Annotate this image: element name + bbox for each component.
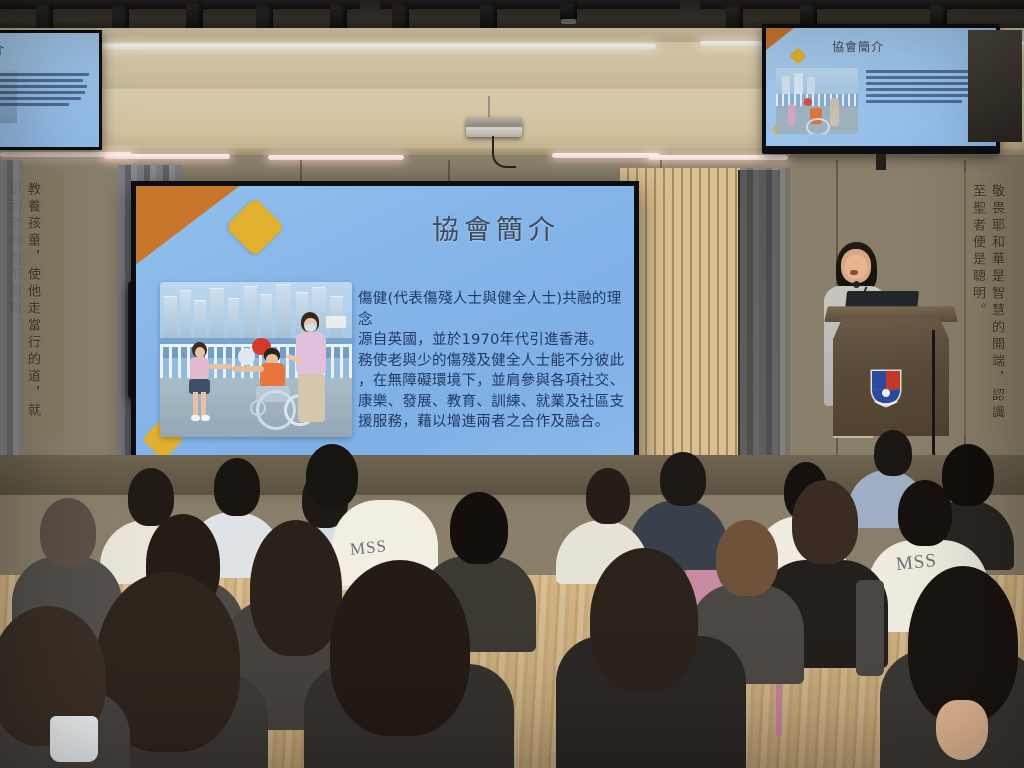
right-monitor-photo	[776, 68, 858, 134]
audience-hair	[908, 566, 1018, 722]
audience-hair	[306, 444, 358, 508]
left-monitor-screen: 介	[0, 33, 99, 147]
right-wall-calligraphy: 敬畏耶和華是智慧的開端，認識至聖者便是聰明。	[968, 184, 1006, 424]
audience-hair	[40, 498, 96, 566]
wall-speaker-box	[968, 30, 1022, 142]
photo-white-balloon-icon	[238, 348, 255, 365]
audience-hair	[250, 520, 342, 656]
audience-hair	[898, 480, 952, 546]
slide-gold-diamond-icon	[790, 48, 807, 65]
right-monitor-title: 協會簡介	[832, 38, 884, 55]
audience-hair	[590, 548, 698, 690]
audience-hair	[214, 458, 260, 516]
track-light-rail-center	[380, 0, 680, 9]
audience-hair	[874, 430, 912, 476]
audience-hair	[792, 480, 858, 564]
photo-face-mask-icon	[305, 324, 316, 331]
speaker-face	[845, 255, 867, 279]
slide-orange-triangle-icon	[766, 28, 794, 50]
slide-body-line: 務使老與少的傷殘及健全人士能不分彼此	[358, 351, 628, 372]
left-monitor-title: 介	[0, 39, 5, 58]
photo-child-girl-leg	[201, 392, 206, 416]
backpack-strap	[856, 580, 884, 676]
spotlight-icon	[560, 1, 577, 21]
photo-child-girl-shirt	[190, 357, 209, 381]
photo-child-girl-leg	[193, 392, 198, 416]
stage-curtain	[740, 168, 790, 468]
photo-child-shoe	[191, 415, 200, 421]
ceiling-projector	[466, 117, 522, 137]
audience-hair	[330, 560, 470, 736]
audience-hair	[716, 520, 778, 596]
photo-handshake-arm	[232, 366, 264, 372]
slide-body-line: 康樂、發展、教育、訓練、就業及社區支	[358, 392, 628, 413]
slide-orange-triangle-icon	[136, 186, 242, 266]
stage-curtain	[0, 160, 22, 460]
slide-photo	[160, 282, 352, 437]
left-wall-monitor: 介	[0, 30, 102, 150]
slide-body-line: ，在無障礙環境下，並肩參與各項社交、	[358, 371, 628, 392]
speaker-mouth	[850, 270, 858, 275]
photo-building	[210, 288, 224, 345]
audience-hair	[586, 468, 630, 524]
uniform-text: MSS	[349, 536, 388, 560]
slide-body-line: 援服務，藉以增進兩者之合作及融合。	[358, 412, 628, 433]
assembly-hall-photo: 教養孩童，使他走當行的道，就是到老他也不偏離。 敬畏耶和華是智慧的開端，認識至聖…	[0, 0, 1024, 768]
photo-handshake-arm	[208, 364, 232, 369]
audience-hair	[450, 492, 508, 564]
presentation-slide: 協會簡介	[136, 186, 634, 471]
slide-title: 協會簡介	[391, 208, 601, 247]
right-monitor-screen: 協會簡介	[766, 28, 996, 146]
audience-face-profile	[936, 700, 988, 760]
photo-building	[244, 286, 257, 345]
spotlight-icon	[480, 3, 497, 31]
right-monitor-mount	[876, 154, 886, 170]
uniform-text: MSS	[895, 550, 938, 576]
photo-building	[276, 284, 291, 345]
photo-caregiver-trousers	[298, 374, 325, 422]
photo-caregiver-top	[296, 332, 326, 376]
face-mask-icon	[50, 716, 98, 762]
photo-sign	[326, 316, 346, 328]
left-monitor-text-block	[0, 73, 91, 109]
projector-mount	[488, 96, 490, 118]
slide-body-text: 傷健(代表傷殘人士與健全人士)共融的理念 源自英國，並於1970年代引進香港。 …	[358, 289, 628, 433]
audience-hair	[942, 444, 994, 506]
ceiling-light-strip	[96, 44, 656, 49]
photo-wheelchair-caster	[250, 400, 266, 416]
school-crest-icon	[869, 368, 903, 408]
slide-body-line: 源自英國，並於1970年代引進香港。	[358, 330, 628, 351]
photo-child-shoe	[201, 415, 210, 421]
track-light-rail-right	[700, 0, 1024, 9]
audience-hair	[660, 452, 706, 506]
slide-body-line: 傷健(代表傷殘人士與健全人士)共融的理念	[358, 289, 628, 330]
track-light-rail-left	[0, 0, 360, 9]
photo-building	[180, 290, 191, 345]
microphone-icon	[853, 281, 860, 288]
right-wall-monitor: 協會簡介	[762, 24, 1000, 154]
